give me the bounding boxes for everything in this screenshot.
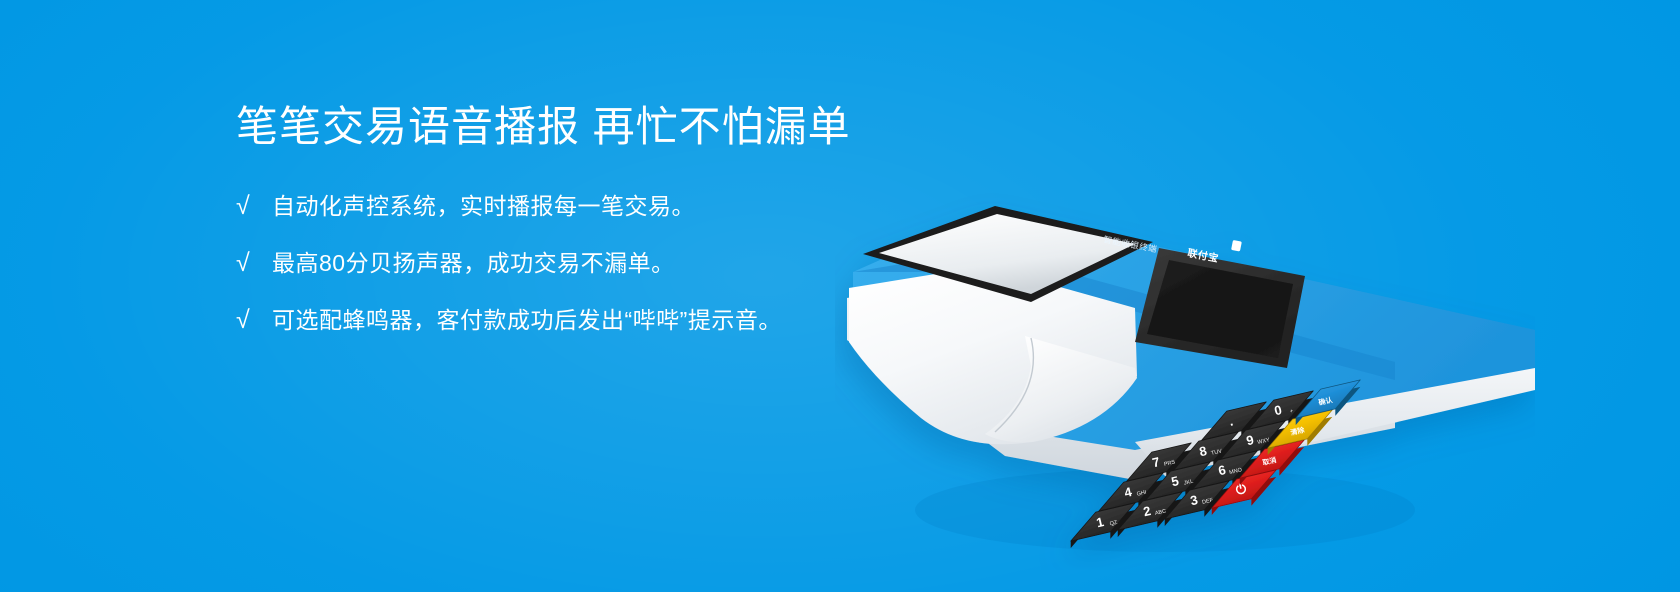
check-mark-icon: √	[236, 190, 272, 222]
promo-banner: 笔笔交易语音播报 再忙不怕漏单 √ 自动化声控系统，实时播报每一笔交易。 √ 最…	[0, 0, 1680, 592]
check-mark-icon: √	[236, 304, 272, 336]
list-item: √ 最高80分贝扬声器，成功交易不漏单。	[236, 247, 916, 279]
list-item: √ 可选配蜂鸣器，客付款成功后发出“哔哔”提示音。	[236, 304, 916, 336]
list-item-label: 可选配蜂鸣器，客付款成功后发出“哔哔”提示音。	[272, 304, 782, 336]
feature-list: √ 自动化声控系统，实时播报每一笔交易。 √ 最高80分贝扬声器，成功交易不漏单…	[236, 190, 916, 336]
list-item: √ 自动化声控系统，实时播报每一笔交易。	[236, 190, 916, 222]
page-title: 笔笔交易语音播报 再忙不怕漏单	[236, 102, 916, 152]
check-mark-icon: √	[236, 247, 272, 279]
pos-terminal-illustration: 智能收银终端 联付宝 .0+7PRS8TUV9WXY4GHI5JKL6MNO1Q…	[835, 180, 1535, 570]
device-logo-mark	[1231, 240, 1242, 252]
pos-terminal-image: 智能收银终端 联付宝 .0+7PRS8TUV9WXY4GHI5JKL6MNO1Q…	[835, 180, 1535, 570]
copy-block: 笔笔交易语音播报 再忙不怕漏单 √ 自动化声控系统，实时播报每一笔交易。 √ 最…	[236, 102, 916, 336]
list-item-label: 最高80分贝扬声器，成功交易不漏单。	[272, 247, 675, 279]
list-item-label: 自动化声控系统，实时播报每一笔交易。	[272, 190, 695, 222]
